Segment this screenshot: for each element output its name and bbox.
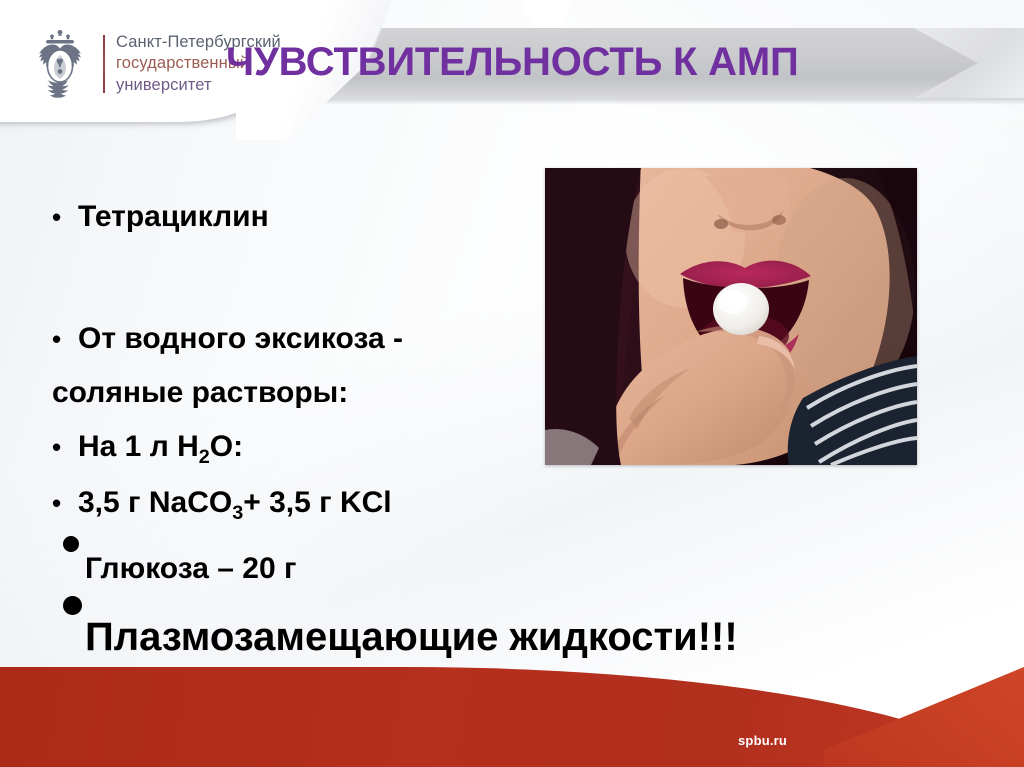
- formula-post: O:: [210, 430, 243, 463]
- bullet-item: • Тетрациклин: [52, 200, 552, 234]
- bullet-marker: •: [52, 490, 78, 516]
- bullet-item: • От водного эксикоза -: [52, 322, 552, 356]
- bullet-item-emphasis: Плазмозамещающие жидкости!!!: [52, 596, 552, 660]
- presentation-slide: Санкт-Петербургский государственный унив…: [0, 0, 1024, 767]
- bullet-marker-large: [63, 536, 79, 552]
- bullet-text: От водного эксикоза -: [78, 322, 552, 356]
- bullet-text-formula: На 1 л H2O:: [78, 430, 552, 464]
- formula-pre: 3,5 г NaCO: [78, 486, 232, 519]
- formula-pre: На 1 л H: [78, 430, 199, 463]
- bullet-marker: •: [52, 204, 78, 230]
- bullet-item-formula: • 3,5 г NaCO3+ 3,5 г KCl: [52, 486, 552, 520]
- bullet-text: Плазмозамещающие жидкости!!!: [52, 615, 552, 660]
- bullet-marker-large: [63, 596, 82, 615]
- bullet-text: Глюкоза – 20 г: [52, 552, 552, 586]
- footer-url-label: spbu.ru: [738, 733, 787, 748]
- logo-divider-rule: [103, 35, 105, 93]
- bullet-text: Тетрациклин: [78, 200, 552, 234]
- slide-body: • Тетрациклин • От водного эксикоза - со…: [52, 178, 552, 660]
- bullet-item: Глюкоза – 20 г: [52, 536, 552, 586]
- bullet-continuation-line: соляные растворы:: [52, 376, 552, 410]
- bullet-text-formula: 3,5 г NaCO3+ 3,5 г KCl: [78, 486, 552, 520]
- slide-title: ЧУВСТВИТЕЛЬНОСТЬ К АМП: [226, 34, 1016, 90]
- woman-taking-pill-photo: [545, 168, 917, 465]
- bullet-item-formula: • На 1 л H2O:: [52, 430, 552, 464]
- bullet-marker: •: [52, 326, 78, 352]
- spbu-double-headed-eagle-emblem: [28, 26, 92, 102]
- bullet-marker: •: [52, 434, 78, 460]
- formula-subscript: 2: [199, 446, 210, 468]
- bullet-text: соляные растворы:: [52, 376, 552, 410]
- formula-subscript: 3: [232, 502, 243, 524]
- formula-post: + 3,5 г KCl: [243, 486, 391, 519]
